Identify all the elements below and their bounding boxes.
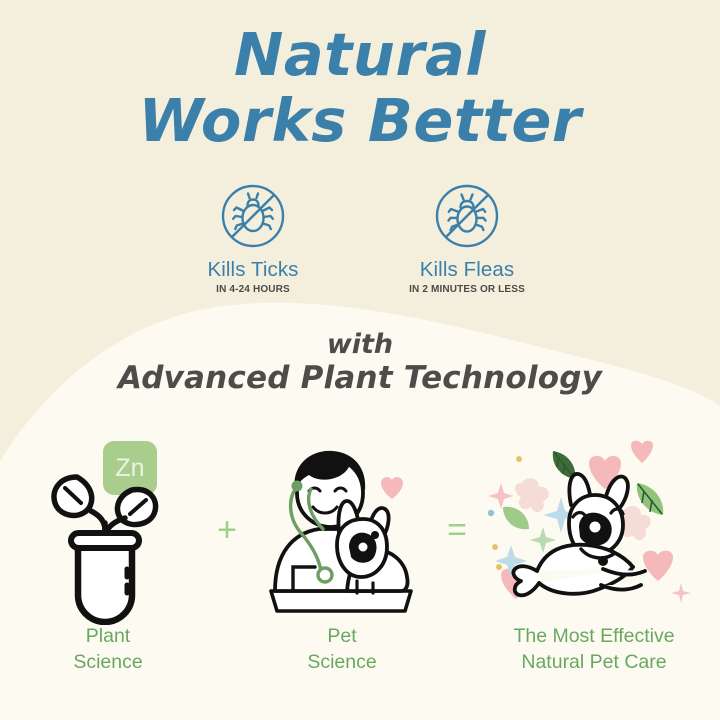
- caption-line: Pet: [253, 624, 431, 650]
- caption-line: Science: [253, 650, 431, 676]
- zinc-badge: Zn: [103, 441, 157, 495]
- subheadline: with Advanced Plant Technology: [0, 330, 720, 399]
- happy-dog-illustration: [483, 435, 705, 625]
- caption-line: The Most Effective: [483, 624, 705, 650]
- captions-row: Plant Science Pet Science The Most Effec…: [0, 624, 720, 675]
- equals-operator: =: [431, 513, 483, 547]
- zinc-badge-label: Zn: [115, 454, 144, 482]
- headline: Natural Works Better: [0, 22, 720, 154]
- caption-result: The Most Effective Natural Pet Care: [483, 624, 705, 675]
- heart-accent: [381, 477, 403, 499]
- claim-subtitle: IN 2 MINUTES OR LESS: [392, 284, 542, 295]
- vet-with-dog-illustration: [253, 435, 431, 625]
- no-tick-icon: [219, 182, 287, 250]
- claim-kills-fleas: Kills Fleas IN 2 MINUTES OR LESS: [392, 182, 542, 295]
- claim-kills-ticks: Kills Ticks IN 4-24 HOURS: [178, 182, 328, 295]
- no-flea-icon: [433, 182, 501, 250]
- caption-line: Plant: [15, 624, 201, 650]
- headline-line-2: Works Better: [0, 88, 720, 154]
- caption-pet-science: Pet Science: [253, 624, 431, 675]
- caption-line: Natural Pet Care: [483, 650, 705, 676]
- caption-plant-science: Plant Science: [15, 624, 201, 675]
- headline-line-1: Natural: [0, 22, 720, 88]
- subheadline-line-1: with: [0, 330, 720, 359]
- subheadline-line-2: Advanced Plant Technology: [0, 359, 720, 399]
- claim-subtitle: IN 4-24 HOURS: [178, 284, 328, 295]
- claims-row: Kills Ticks IN 4-24 HOURS: [0, 182, 720, 295]
- promo-graphic: Natural Works Better: [0, 0, 720, 720]
- dot-accent: [488, 510, 494, 516]
- plus-operator: +: [201, 513, 253, 547]
- equation-row: Zn: [0, 430, 720, 630]
- sparkle-accent: [530, 527, 556, 553]
- caption-line: Science: [15, 650, 201, 676]
- claim-title: Kills Ticks: [178, 258, 328, 282]
- plant-test-tube-illustration: Zn: [15, 435, 201, 625]
- claim-title: Kills Fleas: [392, 258, 542, 282]
